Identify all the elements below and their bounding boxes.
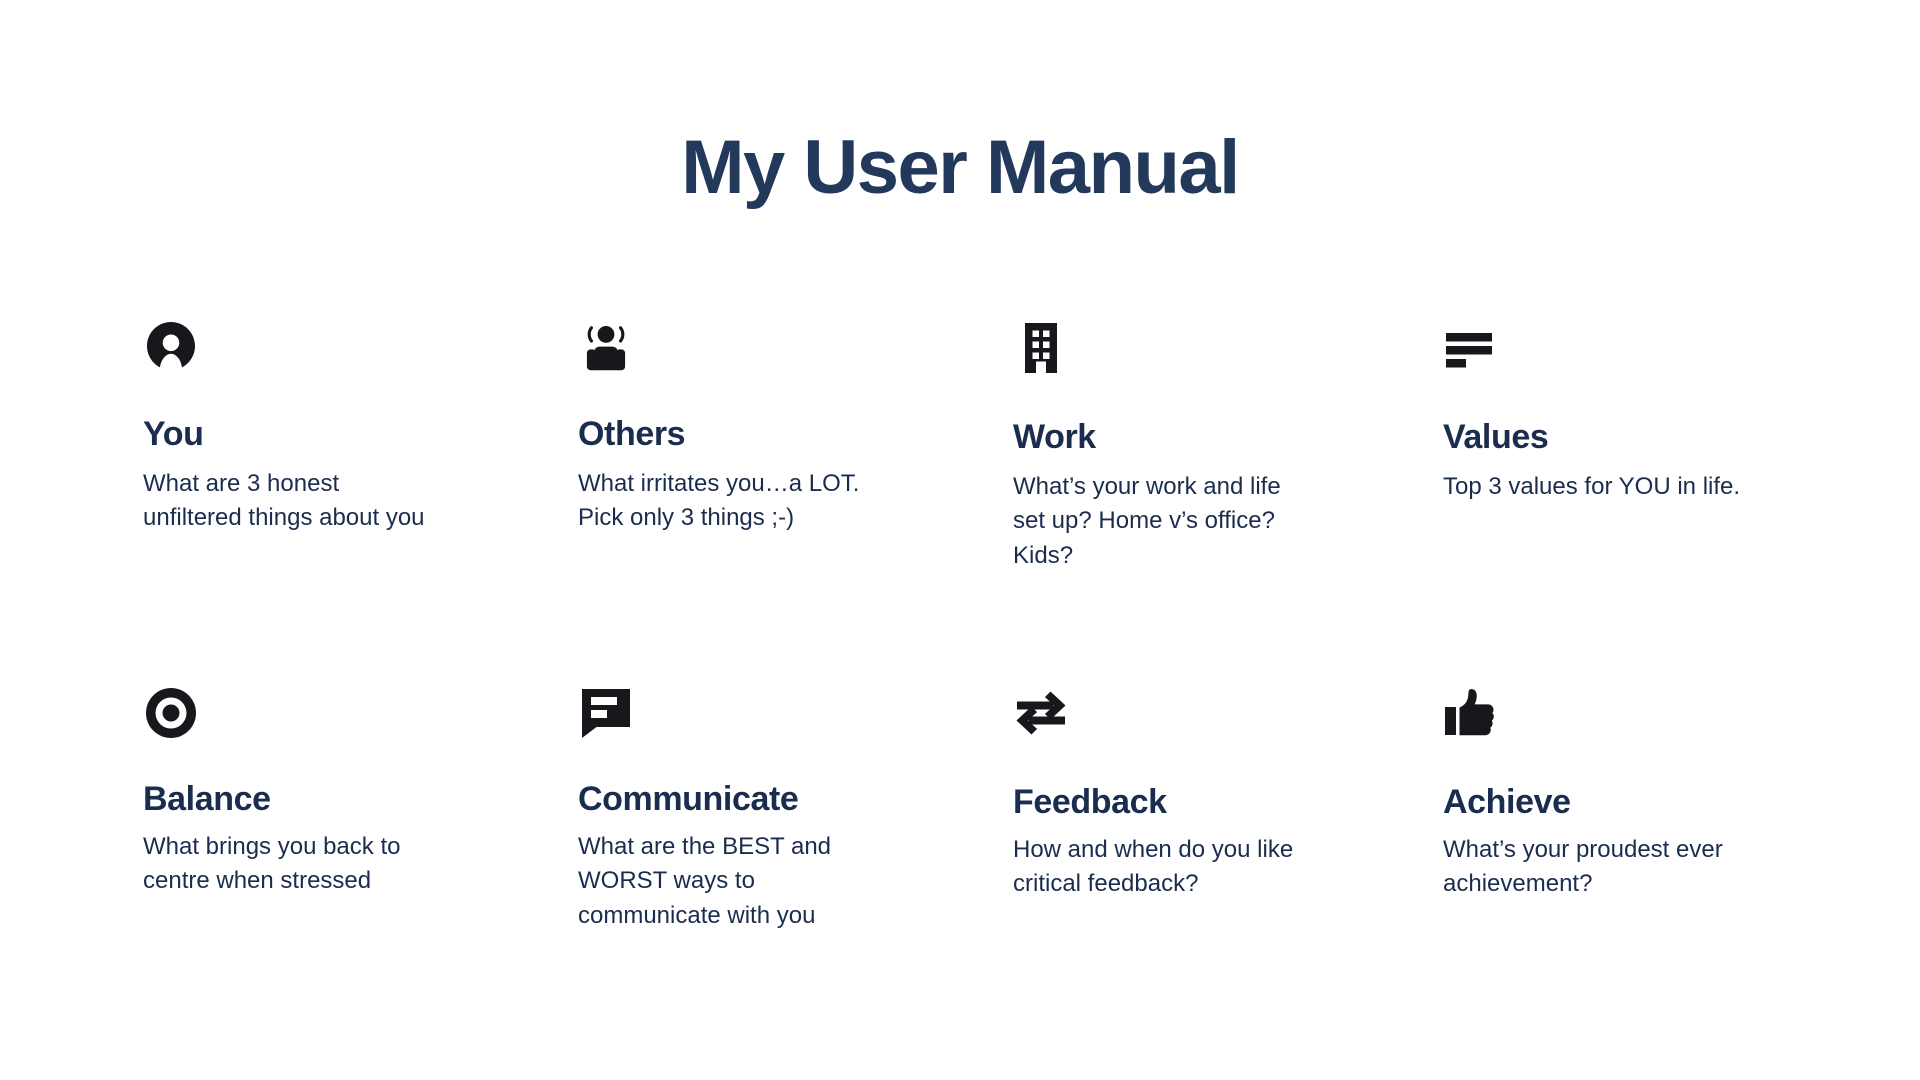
- card-you: You What are 3 honest unfiltered things …: [143, 320, 578, 685]
- card-description: Top 3 values for YOU in life.: [1443, 470, 1783, 504]
- user-manual-slide: My User Manual You What are 3 honest unf…: [0, 0, 1920, 1080]
- people-group-icon: [578, 320, 634, 376]
- card-description: What irritates you…a LOT. Pick only 3 th…: [578, 467, 918, 535]
- list-bars-icon: [1443, 320, 1499, 376]
- card-title: Values: [1443, 419, 1799, 456]
- card-description: What are the BEST and WORST ways to comm…: [578, 830, 918, 932]
- card-title: Feedback: [1013, 784, 1419, 821]
- card-description: What’s your work and life set up? Home v…: [1013, 470, 1353, 572]
- card-title: Work: [1013, 419, 1419, 456]
- card-title: Communicate: [578, 781, 989, 818]
- page-title: My User Manual: [0, 128, 1920, 208]
- card-description: What are 3 honest unfiltered things abou…: [143, 467, 483, 535]
- card-title: Achieve: [1443, 784, 1799, 821]
- card-work: Work What’s your work and life set up? H…: [1013, 320, 1443, 685]
- card-others: Others What irritates you…a LOT. Pick on…: [578, 320, 1013, 685]
- thumbs-up-icon: [1443, 685, 1499, 741]
- card-achieve: Achieve What’s your proudest ever achiev…: [1443, 685, 1823, 933]
- person-circle-icon: [143, 320, 199, 376]
- target-bullseye-icon: [143, 685, 199, 741]
- card-description: What’s your proudest ever achievement?: [1443, 833, 1783, 901]
- card-description: How and when do you like critical feedba…: [1013, 833, 1353, 901]
- card-grid: You What are 3 honest unfiltered things …: [143, 320, 1823, 933]
- card-balance: Balance What brings you back to centre w…: [143, 685, 578, 933]
- card-title: You: [143, 416, 554, 453]
- card-communicate: Communicate What are the BEST and WORST …: [578, 685, 1013, 933]
- exchange-arrows-icon: [1013, 685, 1069, 741]
- card-title: Others: [578, 416, 989, 453]
- card-title: Balance: [143, 781, 554, 818]
- building-icon: [1013, 320, 1069, 376]
- card-description: What brings you back to centre when stre…: [143, 830, 483, 898]
- card-feedback: Feedback How and when do you like critic…: [1013, 685, 1443, 933]
- card-values: Values Top 3 values for YOU in life.: [1443, 320, 1823, 685]
- speech-bubble-icon: [578, 685, 634, 741]
